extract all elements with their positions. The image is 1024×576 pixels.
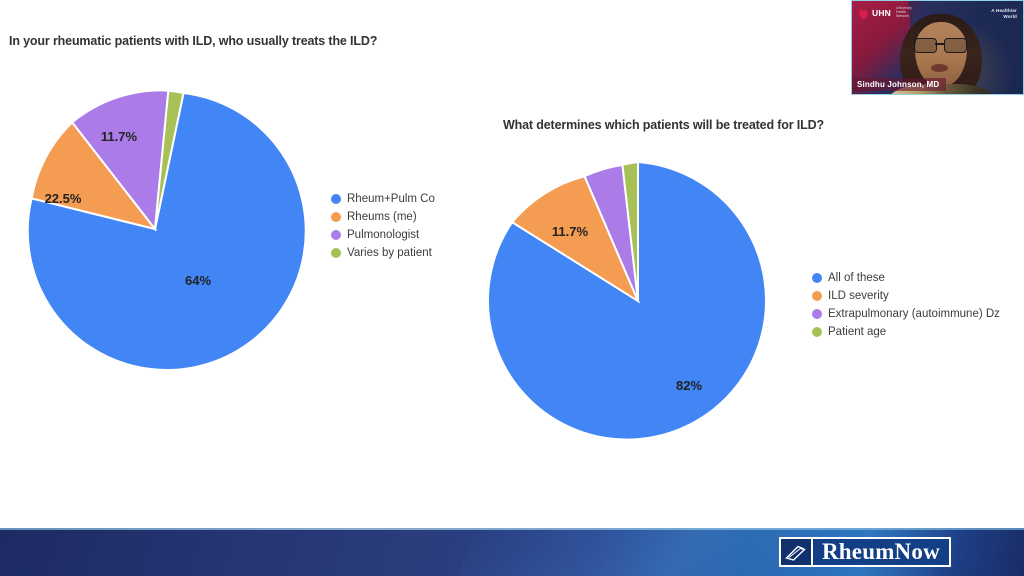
pen-nib-icon: [781, 539, 813, 565]
chart-2-legend-label-3: Patient age: [828, 323, 886, 341]
legend-swatch-icon: [331, 194, 341, 204]
uhn-subtitle: University Health Network: [896, 7, 912, 18]
legend-swatch-icon: [331, 230, 341, 240]
chart-1-legend-item-2[interactable]: Pulmonologist: [331, 226, 443, 244]
uhn-tagline: A Healthier World: [991, 8, 1017, 19]
chart-1-legend: Rheum+Pulm Co Rheums (me) Pulmonologist …: [331, 190, 443, 262]
chart-2-legend-label-2: Extrapulmonary (autoimmune) Dz: [828, 305, 1000, 323]
chart-2-title: What determines which patients will be t…: [503, 118, 824, 132]
portrait-mouth: [931, 64, 948, 72]
chart-1-legend-label-1: Rheums (me): [347, 208, 417, 226]
pen-nib-glyph: [785, 544, 807, 562]
chart-2-pie-svg: 82% 11.7%: [499, 162, 777, 440]
legend-swatch-icon: [812, 291, 822, 301]
legend-swatch-icon: [331, 212, 341, 222]
rheumnow-logo[interactable]: RheumNow: [779, 537, 951, 567]
chart-1-label-2: 11.7%: [101, 129, 138, 144]
legend-swatch-icon: [812, 273, 822, 283]
chart-2-legend-item-0[interactable]: All of these: [812, 269, 1024, 287]
chart-2-legend: All of these ILD severity Extrapulmonary…: [812, 269, 1024, 341]
legend-swatch-icon: [812, 327, 822, 337]
chart-1-title: In your rheumatic patients with ILD, who…: [9, 34, 377, 48]
uhn-mark-icon: [858, 7, 869, 19]
chart-1-legend-label-3: Varies by patient: [347, 244, 432, 262]
chart-1-legend-item-0[interactable]: Rheum+Pulm Co: [331, 190, 443, 208]
glasses-bridge: [935, 43, 944, 45]
uhn-wordmark: UHN: [872, 9, 891, 18]
speaker-video-tile[interactable]: UHN University Health Network A Healthie…: [851, 0, 1024, 95]
chart-1-label-0: 64%: [185, 273, 211, 288]
chart-1-label-1: 22.5%: [45, 191, 82, 206]
chart-2-legend-label-0: All of these: [828, 269, 885, 287]
uhn-logo: UHN University Health Network: [858, 7, 912, 19]
legend-swatch-icon: [331, 248, 341, 258]
chart-2-legend-item-2[interactable]: Extrapulmonary (autoimmune) Dz: [812, 305, 1024, 323]
glasses-lens-right: [944, 38, 967, 53]
chart-1-legend-label-0: Rheum+Pulm Co: [347, 190, 435, 208]
chart-1-legend-item-3[interactable]: Varies by patient: [331, 244, 443, 262]
chart-1-legend-item-1[interactable]: Rheums (me): [331, 208, 443, 226]
chart-2-label-1: 11.7%: [552, 224, 589, 239]
uhn-mark-glyph: [858, 8, 869, 20]
rheumnow-wordmark: RheumNow: [813, 539, 949, 565]
chart-1-pie: 64% 22.5% 11.7%: [16, 90, 294, 368]
chart-2-legend-item-3[interactable]: Patient age: [812, 323, 1024, 341]
chart-1-legend-label-2: Pulmonologist: [347, 226, 419, 244]
chart-2-pie: 82% 11.7%: [499, 162, 777, 440]
glasses-lens-left: [914, 38, 937, 53]
presentation-slide: In your rheumatic patients with ILD, who…: [0, 0, 1024, 576]
chart-2-label-0: 82%: [676, 378, 702, 393]
chart-2-legend-item-1[interactable]: ILD severity: [812, 287, 1024, 305]
chart-1-pie-svg: 64% 22.5% 11.7%: [16, 90, 294, 368]
chart-2-legend-label-1: ILD severity: [828, 287, 889, 305]
legend-swatch-icon: [812, 309, 822, 319]
glasses-icon: [913, 38, 969, 52]
speaker-nameplate: Sindhu Johnson, MD: [851, 78, 946, 91]
portrait-face: [915, 22, 967, 86]
